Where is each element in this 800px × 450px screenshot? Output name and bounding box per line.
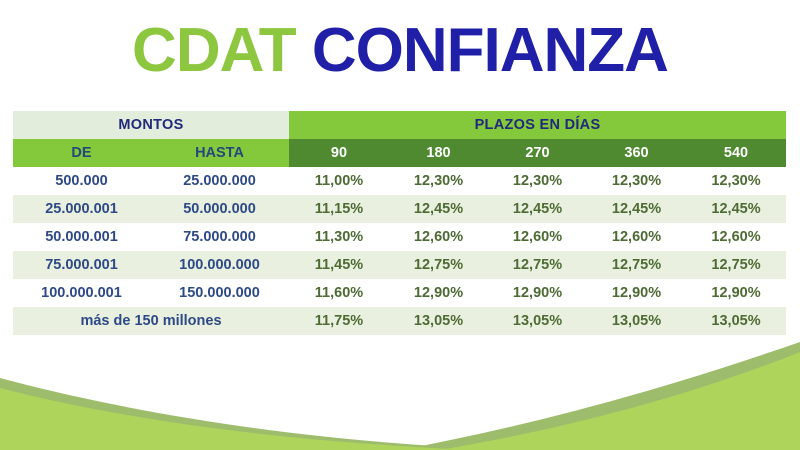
cell-rate-360: 12,75%: [587, 251, 686, 279]
cell-rate-270: 12,75%: [488, 251, 587, 279]
table-row: 500.00025.000.00011,00%12,30%12,30%12,30…: [13, 167, 786, 195]
column-header-hasta: HASTA: [150, 139, 289, 167]
cell-rate-180: 12,30%: [389, 167, 488, 195]
table-row: 25.000.00150.000.00011,15%12,45%12,45%12…: [13, 195, 786, 223]
title-brand-confianza: CONFIANZA: [312, 16, 668, 85]
column-header-plazo-360: 360: [587, 139, 686, 167]
rates-table-container: MONTOS PLAZOS EN DÍAS DE HASTA 90 180 27…: [13, 111, 786, 335]
title-brand-cdat: CDAT: [132, 16, 296, 85]
table-row: más de 150 millones11,75%13,05%13,05%13,…: [13, 307, 786, 335]
swoosh-light-right-shape: [440, 352, 800, 450]
cell-amount-hasta: 100.000.000: [150, 251, 289, 279]
cell-rate-180: 12,45%: [389, 195, 488, 223]
cell-amount-range-label: más de 150 millones: [13, 307, 289, 335]
group-header-plazos: PLAZOS EN DÍAS: [289, 111, 786, 139]
cell-rate-540: 12,45%: [686, 195, 786, 223]
group-header-montos: MONTOS: [13, 111, 289, 139]
cell-rate-90: 11,75%: [289, 307, 389, 335]
cell-rate-270: 13,05%: [488, 307, 587, 335]
table-body: 500.00025.000.00011,00%12,30%12,30%12,30…: [13, 167, 786, 335]
column-header-plazo-180: 180: [389, 139, 488, 167]
table-row: 50.000.00175.000.00011,30%12,60%12,60%12…: [13, 223, 786, 251]
cell-amount-de: 75.000.001: [13, 251, 150, 279]
cell-rate-180: 12,75%: [389, 251, 488, 279]
cell-amount-de: 25.000.001: [13, 195, 150, 223]
rates-table: MONTOS PLAZOS EN DÍAS DE HASTA 90 180 27…: [13, 111, 786, 335]
cell-rate-360: 12,90%: [587, 279, 686, 307]
cell-rate-360: 13,05%: [587, 307, 686, 335]
cell-amount-de: 500.000: [13, 167, 150, 195]
cell-rate-360: 12,30%: [587, 167, 686, 195]
cell-rate-180: 12,60%: [389, 223, 488, 251]
group-header-row: MONTOS PLAZOS EN DÍAS: [13, 111, 786, 139]
cell-rate-540: 12,60%: [686, 223, 786, 251]
cell-rate-540: 12,30%: [686, 167, 786, 195]
cell-rate-360: 12,60%: [587, 223, 686, 251]
sub-header-row: DE HASTA 90 180 270 360 540: [13, 139, 786, 167]
cell-amount-hasta: 25.000.000: [150, 167, 289, 195]
table-head: MONTOS PLAZOS EN DÍAS DE HASTA 90 180 27…: [13, 111, 786, 167]
table-row: 100.000.001150.000.00011,60%12,90%12,90%…: [13, 279, 786, 307]
cell-amount-de: 50.000.001: [13, 223, 150, 251]
cell-rate-90: 11,00%: [289, 167, 389, 195]
column-header-de: DE: [13, 139, 150, 167]
cell-rate-270: 12,90%: [488, 279, 587, 307]
swoosh-light-left-shape: [0, 388, 470, 450]
page-title: CDAT CONFIANZA: [0, 20, 800, 82]
cell-rate-180: 13,05%: [389, 307, 488, 335]
cell-rate-540: 12,90%: [686, 279, 786, 307]
cell-rate-180: 12,90%: [389, 279, 488, 307]
cell-amount-hasta: 150.000.000: [150, 279, 289, 307]
cell-rate-540: 13,05%: [686, 307, 786, 335]
cell-rate-360: 12,45%: [587, 195, 686, 223]
cell-rate-90: 11,30%: [289, 223, 389, 251]
cell-rate-270: 12,30%: [488, 167, 587, 195]
column-header-plazo-540: 540: [686, 139, 786, 167]
cell-amount-hasta: 50.000.000: [150, 195, 289, 223]
cell-amount-de: 100.000.001: [13, 279, 150, 307]
cell-amount-hasta: 75.000.000: [150, 223, 289, 251]
swoosh-dark-left-shape: [0, 378, 520, 450]
table-row: 75.000.001100.000.00011,45%12,75%12,75%1…: [13, 251, 786, 279]
bottom-swoosh-decoration: [0, 340, 800, 450]
cell-rate-90: 11,15%: [289, 195, 389, 223]
cell-rate-90: 11,45%: [289, 251, 389, 279]
cell-rate-270: 12,60%: [488, 223, 587, 251]
title-text: CDAT CONFIANZA: [0, 20, 800, 82]
cell-rate-90: 11,60%: [289, 279, 389, 307]
column-header-plazo-90: 90: [289, 139, 389, 167]
cell-rate-540: 12,75%: [686, 251, 786, 279]
column-header-plazo-270: 270: [488, 139, 587, 167]
cell-rate-270: 12,45%: [488, 195, 587, 223]
swoosh-dark-right-shape: [400, 342, 800, 450]
